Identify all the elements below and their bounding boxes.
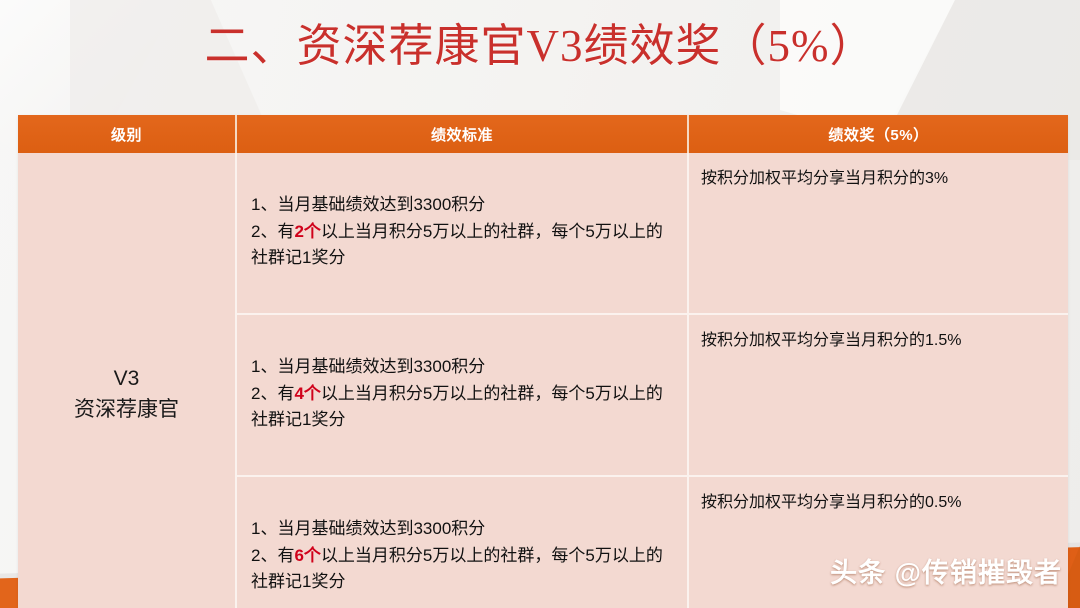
table-body: V3 资深荐康官 1、当月基础绩效达到3300积分 2、有2个以上当月积分5万以… [18, 153, 1068, 608]
standard-line-1: 1、当月基础绩效达到3300积分 [251, 516, 673, 542]
standard-line-1: 1、当月基础绩效达到3300积分 [251, 192, 673, 218]
bonus-cell: 按积分加权平均分享当月积分的3% [688, 153, 1068, 314]
table-row: V3 资深荐康官 1、当月基础绩效达到3300积分 2、有2个以上当月积分5万以… [18, 153, 1068, 314]
standard-cell: 1、当月基础绩效达到3300积分 2、有2个以上当月积分5万以上的社群，每个5万… [236, 153, 688, 314]
standard-line-2-prefix: 2、有 [251, 384, 294, 403]
standard-cell: 1、当月基础绩效达到3300积分 2、有6个以上当月积分5万以上的社群，每个5万… [236, 476, 688, 608]
page-title: 二、资深荐康官V3绩效奖（5%） [0, 22, 1080, 72]
standard-line-2-highlight: 2个 [294, 222, 320, 241]
standard-line-2-prefix: 2、有 [251, 222, 294, 241]
performance-bonus-table: 级别 绩效标准 绩效奖（5%） V3 资深荐康官 1、当月基础绩效达到3300积… [18, 115, 1068, 608]
level-code: V3 [18, 364, 235, 394]
table-header: 级别 绩效标准 绩效奖（5%） [18, 115, 1068, 153]
bonus-cell: 按积分加权平均分享当月积分的1.5% [688, 314, 1068, 476]
standard-line-2-prefix: 2、有 [251, 546, 294, 565]
level-name: 资深荐康官 [18, 395, 235, 425]
standard-line-2: 2、有6个以上当月积分5万以上的社群，每个5万以上的社群记1奖分 [251, 543, 673, 596]
standard-line-1: 1、当月基础绩效达到3300积分 [251, 354, 673, 380]
column-header-standard: 绩效标准 [236, 115, 688, 153]
standard-cell: 1、当月基础绩效达到3300积分 2、有4个以上当月积分5万以上的社群，每个5万… [236, 314, 688, 476]
watermark-label: 头条 @传销摧毁者 [830, 551, 1062, 590]
standard-line-2-highlight: 4个 [294, 384, 320, 403]
column-header-bonus: 绩效奖（5%） [688, 115, 1068, 153]
standard-line-2-highlight: 6个 [294, 546, 320, 565]
slide-canvas: 二、资深荐康官V3绩效奖（5%） 级别 绩效标准 绩效奖（5%） V3 资深荐康… [0, 0, 1080, 608]
standard-line-2: 2、有2个以上当月积分5万以上的社群，每个5万以上的社群记1奖分 [251, 219, 673, 272]
standard-line-2: 2、有4个以上当月积分5万以上的社群，每个5万以上的社群记1奖分 [251, 381, 673, 434]
column-header-level: 级别 [18, 115, 236, 153]
level-cell: V3 资深荐康官 [18, 153, 236, 608]
table-header-row: 级别 绩效标准 绩效奖（5%） [18, 115, 1068, 153]
